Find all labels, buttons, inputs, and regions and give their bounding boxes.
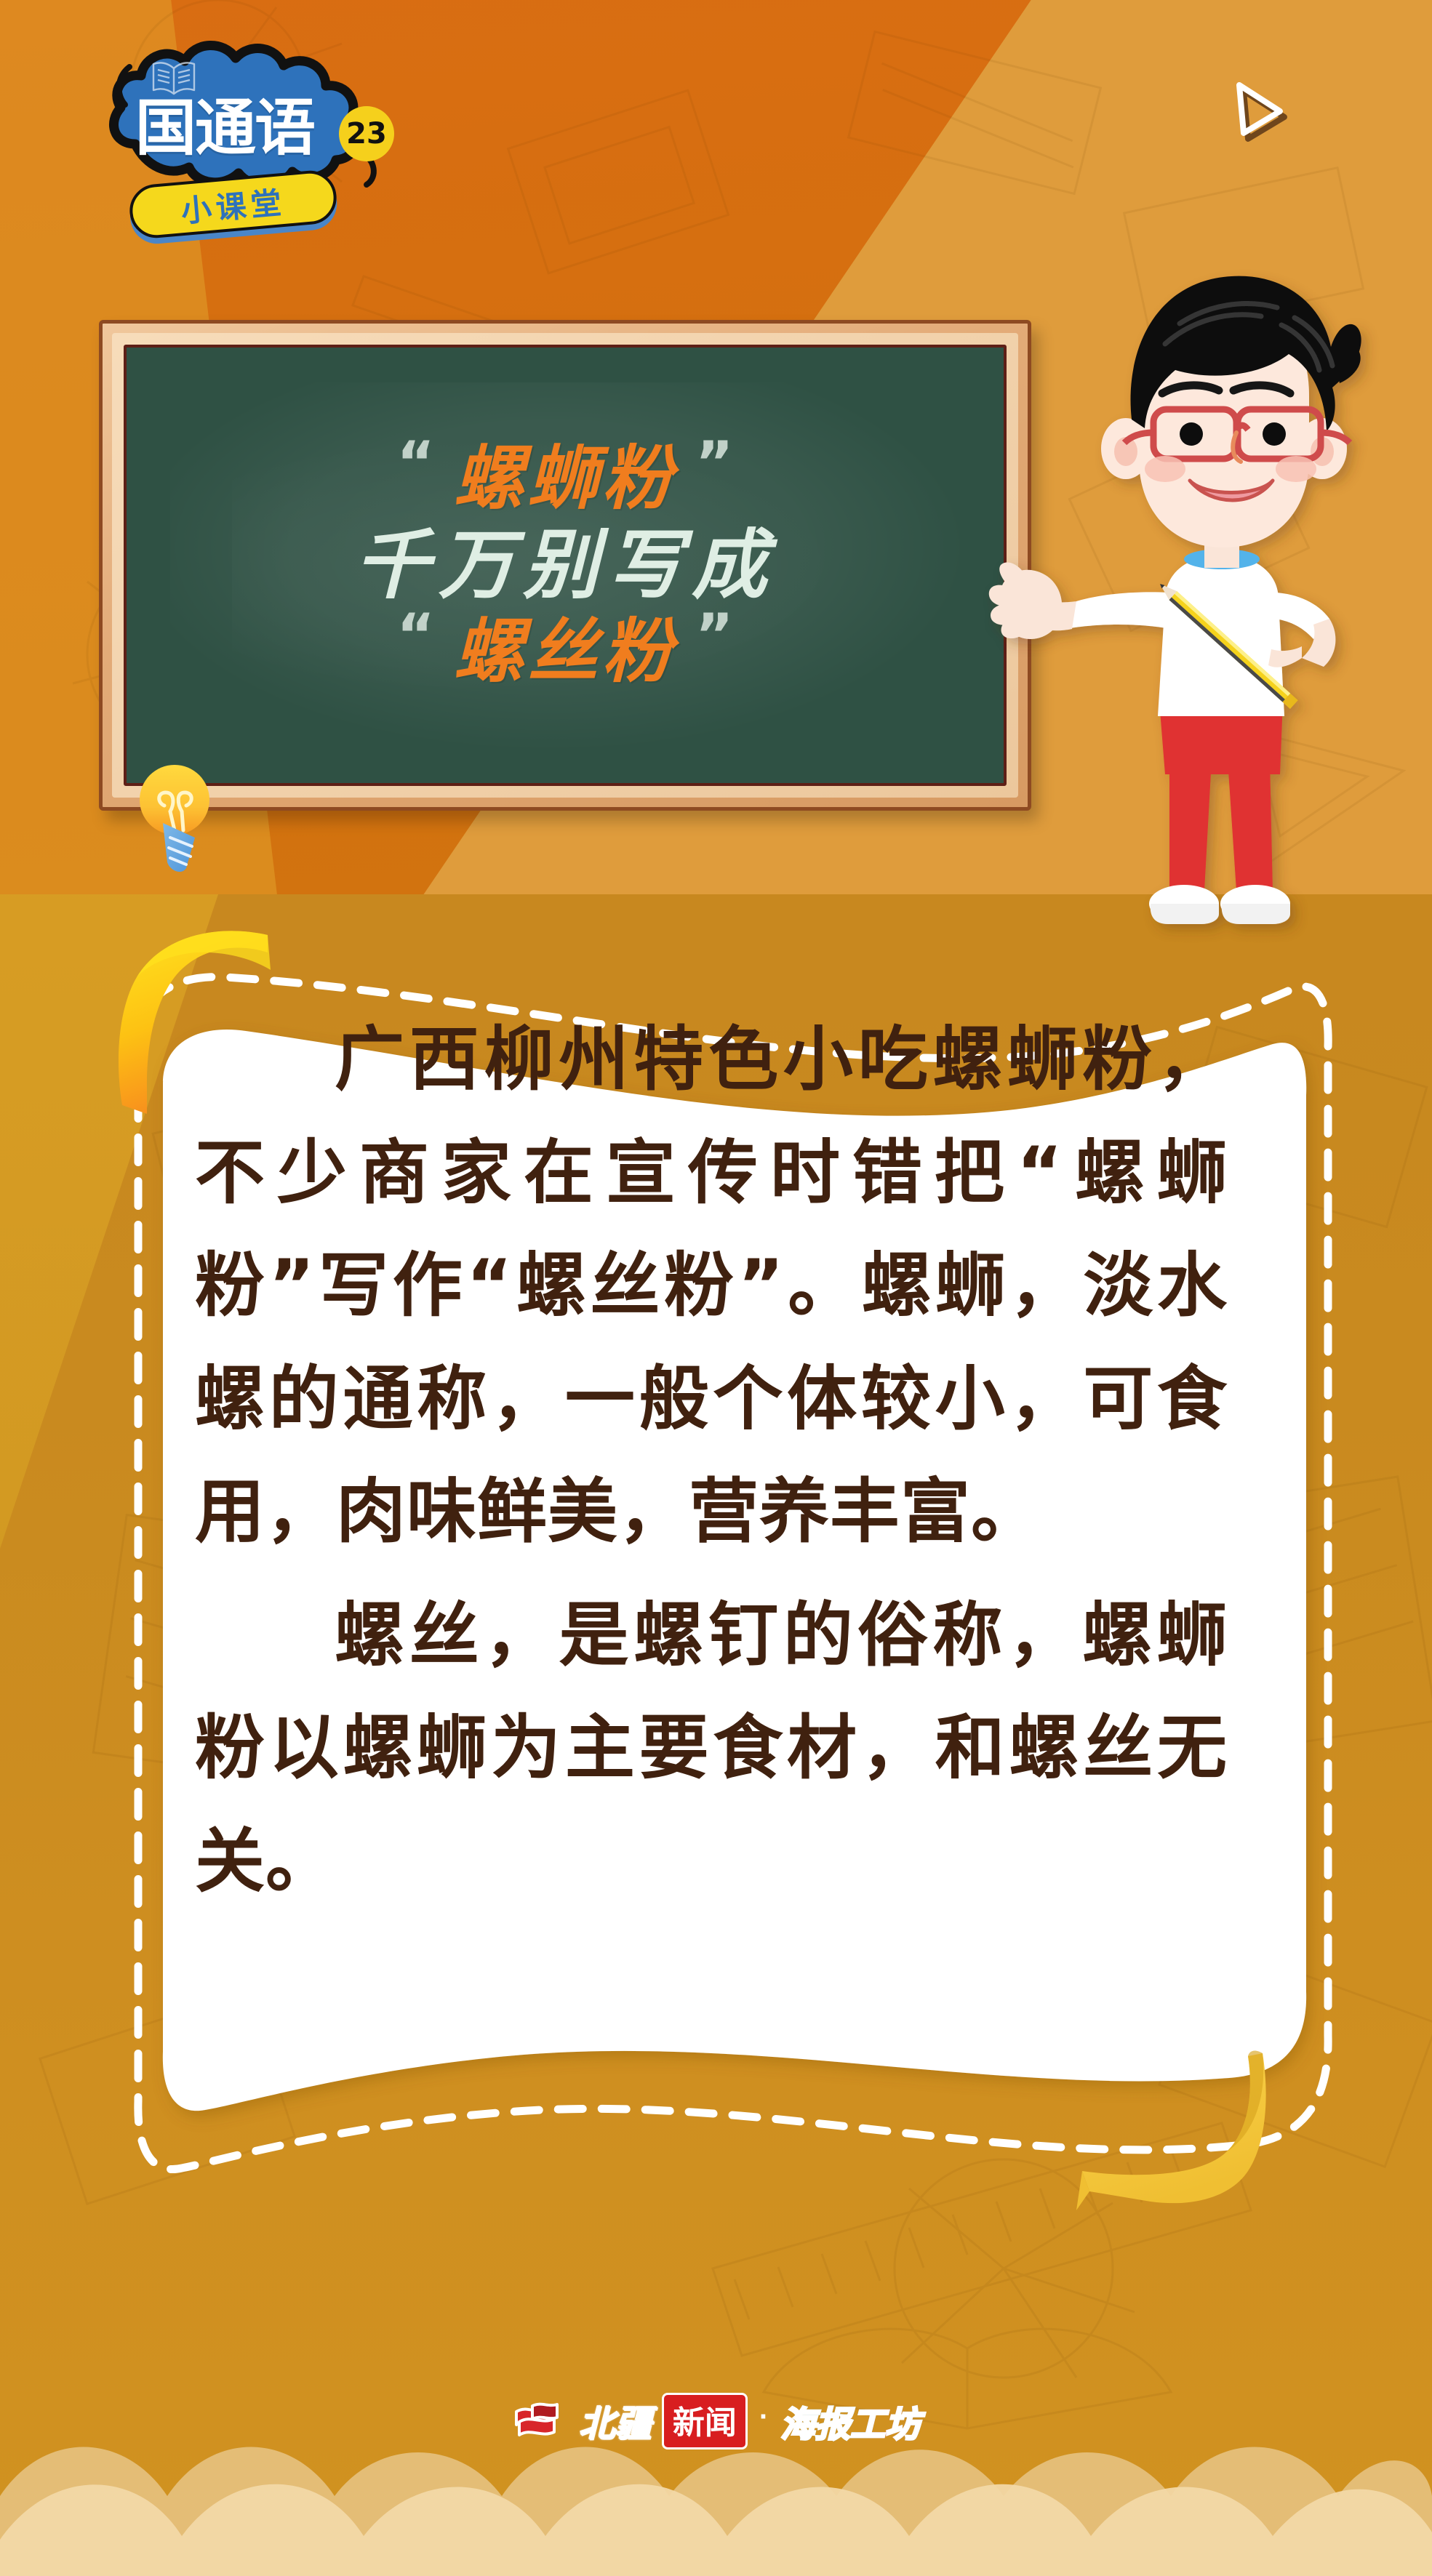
blackboard-surface: “ 螺蛳粉 ” 千万别写成 “ 螺丝粉 ” (124, 345, 1007, 786)
blackboard-line-1-text: 螺蛳粉 (454, 442, 676, 515)
open-quote-2: “ (396, 605, 435, 666)
logo-badge[interactable]: 国通语 23 小课堂 (108, 35, 413, 217)
close-quote-1: ” (695, 433, 734, 494)
blackboard-line-2-text: 千万别写成 (354, 526, 776, 605)
footer-brand-name: 北疆 (579, 2395, 652, 2447)
open-book-icon (151, 60, 196, 101)
lightbulb-icon (135, 761, 223, 880)
boy-with-glasses-illustration (996, 251, 1432, 931)
close-quote-2: ” (695, 605, 734, 666)
blackboard-line-2: 千万别写成 (354, 526, 776, 605)
card-ribbon-bottom-right (1047, 2029, 1287, 2225)
blackboard-line-3-text: 螺丝粉 (454, 615, 676, 689)
card-body-text: 广西柳州特色小吃螺蛳粉，不少商家在宣传时错把“螺蛳粉”写作“螺丝粉”。螺蛳，淡水… (195, 1003, 1228, 1928)
poster-root: 国通语 23 小课堂 “ 螺蛳粉 ” 千万别写成 (0, 0, 1432, 2576)
footer-brand-logo: 北疆 新闻 · 海报工坊 (0, 2388, 1432, 2454)
logo-episode-badge: 23 (339, 106, 394, 161)
blackboard: “ 螺蛳粉 ” 千万别写成 “ 螺丝粉 ” (99, 320, 1031, 811)
blackboard-line-3: “ 螺丝粉 ” (396, 615, 733, 689)
blackboard-text-block: “ 螺蛳粉 ” 千万别写成 “ 螺丝粉 ” (127, 348, 1004, 783)
red-flag-icon (512, 2400, 569, 2442)
card-paragraph-2: 螺丝，是螺钉的俗称，螺蛳粉以螺蛳为主要食材，和螺丝无关。 (195, 1579, 1228, 1919)
footer-separator: · (759, 2401, 769, 2433)
open-quote-1: “ (396, 433, 435, 494)
card-paragraph-1: 广西柳州特色小吃螺蛳粉，不少商家在宣传时错把“螺蛳粉”写作“螺丝粉”。螺蛳，淡水… (195, 1003, 1228, 1569)
footer-studio-name: 海报工坊 (780, 2396, 920, 2447)
logo-title: 国通语 (135, 97, 314, 159)
blackboard-line-1: “ 螺蛳粉 ” (396, 442, 733, 515)
content-card: 广西柳州特色小吃螺蛳粉，不少商家在宣传时错把“螺蛳粉”写作“螺丝粉”。螺蛳，淡水… (109, 902, 1331, 2203)
logo-subtitle: 小课堂 (179, 177, 287, 230)
footer-news-tag: 新闻 (662, 2393, 748, 2449)
play-triangle-icon[interactable] (1229, 76, 1295, 145)
